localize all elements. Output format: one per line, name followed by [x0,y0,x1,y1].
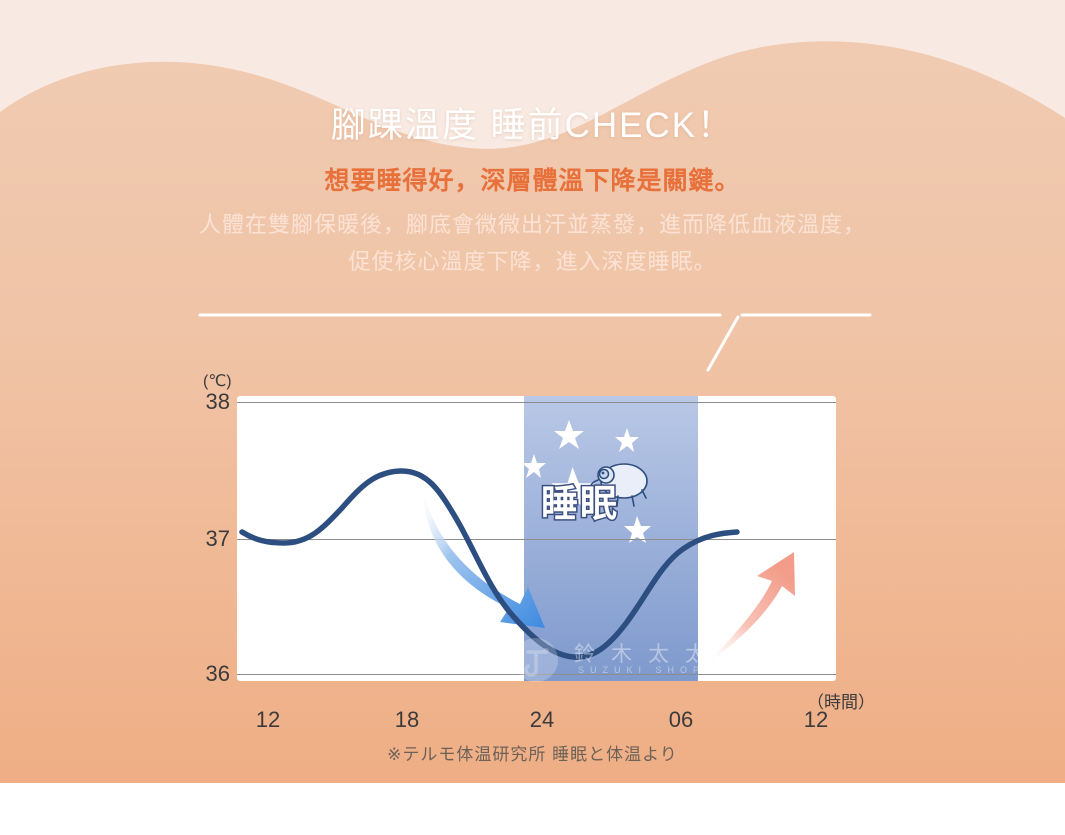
watermark-subtext: SUZUKI SHOP [578,665,705,675]
y-tick-37: 37 [196,528,230,550]
x-tick-2: 24 [512,709,572,731]
y-tick-36: 36 [196,663,230,685]
temperature-chart: 鈴木太太 SUZUKI SHOP [237,396,836,681]
x-tick-0: 12 [238,709,298,731]
sleep-band-label-text: 睡眠 [541,483,619,524]
x-tick-1: 18 [377,709,437,731]
y-tick-38: 38 [196,391,230,413]
temperature-down-arrow [423,488,545,628]
background-bottom-white [0,783,1065,835]
page-root: 腳踝溫度 睡前CHECK！ 想要睡得好，深層體溫下降是關鍵。 人體在雙腳保暖後，… [0,0,1065,835]
sleep-band-label: 睡眠 [541,484,619,524]
x-axis-unit: （時間） [786,688,896,713]
watermark: 鈴木太太 SUZUKI SHOP [512,636,742,684]
chart-source-note: ※テルモ体温研究所 睡眠と体温より [0,740,1065,765]
paragraph-line-1: 人體在雙腳保暖後，腳底會微微出汗並蒸發，進而降低血液溫度， [0,209,1065,241]
paragraph-line-2: 促使核心溫度下降，進入深度睡眠。 [0,246,1065,278]
y-axis-unit: (℃) [203,371,232,391]
divider-line [190,295,880,375]
page-title: 腳踝溫度 睡前CHECK！ [0,104,1065,148]
watermark-logo-icon [512,636,568,684]
body-temperature-curve [242,471,737,657]
watermark-text: 鈴木太太 [574,638,722,668]
x-tick-3: 06 [651,709,711,731]
page-subtitle: 想要睡得好，深層體溫下降是關鍵。 [0,165,1065,197]
